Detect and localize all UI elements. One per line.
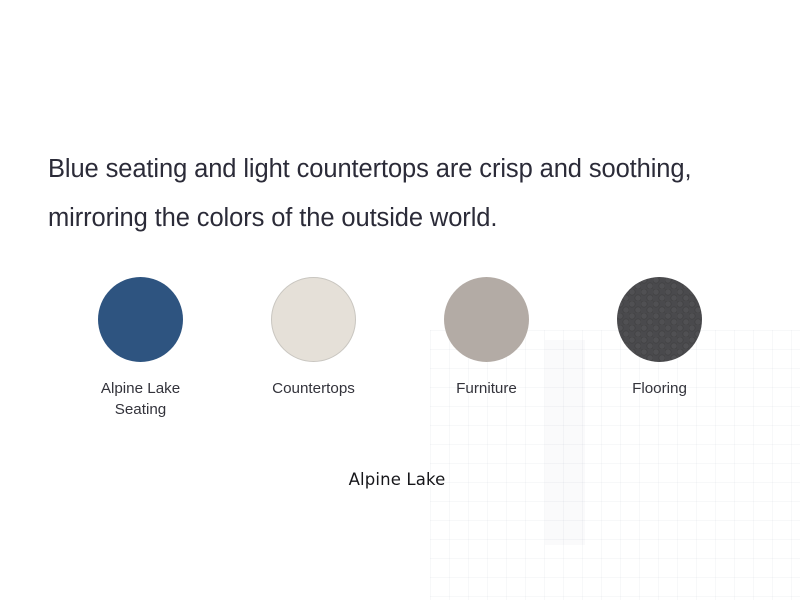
- headline-text: Blue seating and light countertops are c…: [48, 145, 758, 243]
- slide-canvas: Blue seating and light countertops are c…: [0, 0, 800, 600]
- color-swatch-circle-countertops[interactable]: [271, 277, 356, 362]
- palette-swatch-row: Alpine Lake Seating Countertops Furnitur…: [54, 277, 748, 437]
- color-swatch-circle-alpine-lake-seating[interactable]: [98, 277, 183, 362]
- swatch-item-countertops[interactable]: Countertops: [227, 277, 400, 399]
- swatch-item-alpine-lake-seating[interactable]: Alpine Lake Seating: [54, 277, 227, 420]
- swatch-label-flooring: Flooring: [632, 378, 687, 399]
- palette-caption: Alpine Lake: [0, 470, 797, 489]
- swatch-item-flooring[interactable]: Flooring: [573, 277, 746, 399]
- color-swatch-circle-flooring[interactable]: [617, 277, 702, 362]
- swatch-label-furniture: Furniture: [456, 378, 517, 399]
- color-swatch-circle-furniture[interactable]: [444, 277, 529, 362]
- swatch-label-alpine-lake-seating: Alpine Lake Seating: [81, 378, 201, 420]
- swatch-item-furniture[interactable]: Furniture: [400, 277, 573, 399]
- swatch-label-countertops: Countertops: [272, 378, 355, 399]
